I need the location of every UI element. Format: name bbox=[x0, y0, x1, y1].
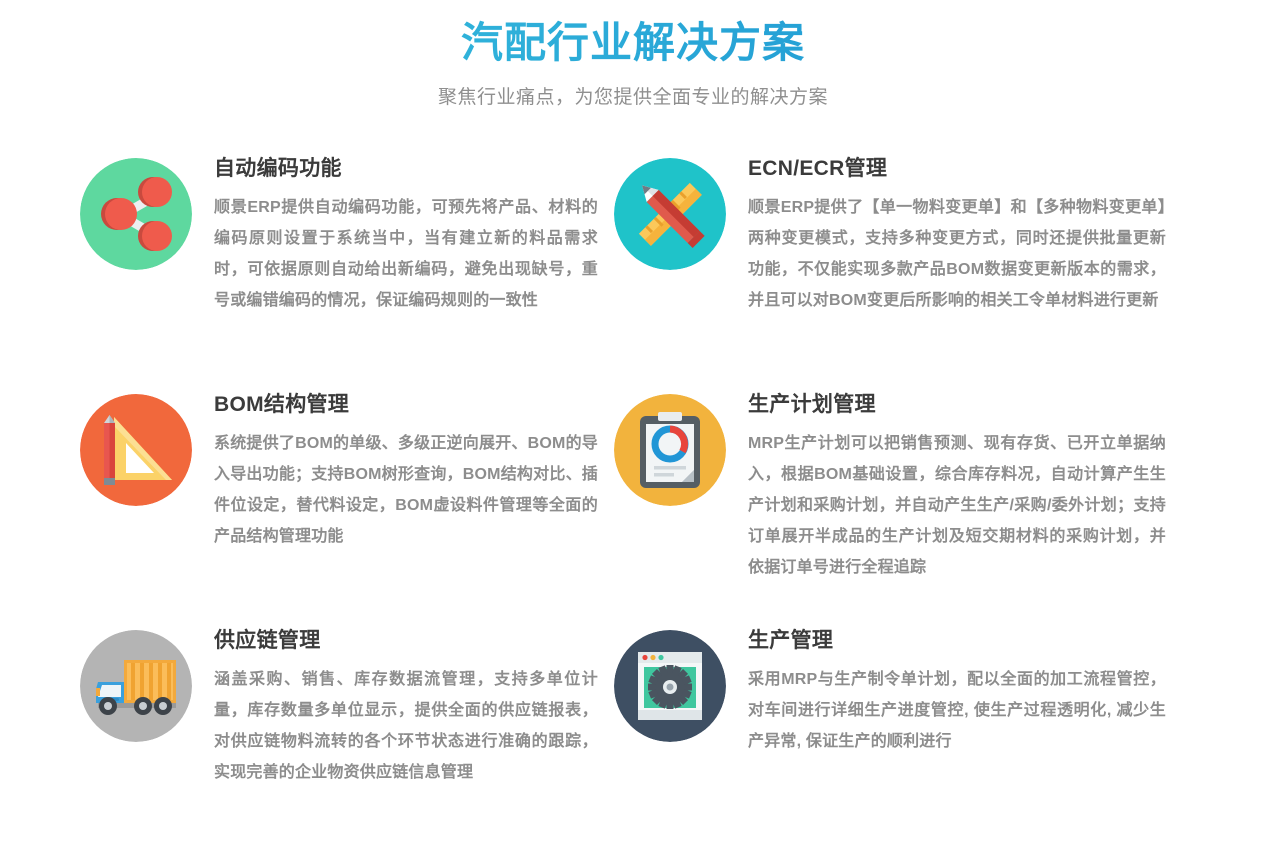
feature-body: ECN/ECR管理 顺景ERP提供了【单一物料变更单】和【多种物料变更单】两种变… bbox=[748, 154, 1180, 316]
page-header: 汽配行业解决方案 聚焦行业痛点，为您提供全面专业的解决方案 bbox=[0, 0, 1266, 112]
feature-card-auto-coding: 自动编码功能 顺景ERP提供自动编码功能，可预先将产品、材料的编码原则设置于系统… bbox=[80, 154, 614, 390]
feature-description: 顺景ERP提供了【单一物料变更单】和【多种物料变更单】两种变更模式，支持多种变更… bbox=[748, 192, 1166, 316]
feature-card-ecn-ecr: ECN/ECR管理 顺景ERP提供了【单一物料变更单】和【多种物料变更单】两种变… bbox=[614, 154, 1186, 390]
page-subtitle: 聚焦行业痛点，为您提供全面专业的解决方案 bbox=[0, 84, 1266, 112]
clipboard-chart-icon bbox=[614, 394, 726, 506]
feature-card-bom-structure: BOM结构管理 系统提供了BOM的单级、多级正逆向展开、BOM的导入导出功能；支… bbox=[80, 390, 614, 626]
feature-body: 生产计划管理 MRP生产计划可以把销售预测、现有存货、已开立单据纳入，根据BOM… bbox=[748, 390, 1180, 583]
share-nodes-icon bbox=[80, 158, 192, 270]
feature-title: 生产管理 bbox=[748, 626, 1180, 656]
feature-body: BOM结构管理 系统提供了BOM的单级、多级正逆向展开、BOM的导入导出功能；支… bbox=[214, 390, 590, 552]
page-title: 汽配行业解决方案 bbox=[0, 12, 1266, 74]
feature-title: BOM结构管理 bbox=[214, 390, 590, 420]
pencil-ruler-icon bbox=[614, 158, 726, 270]
feature-card-production-plan: 生产计划管理 MRP生产计划可以把销售预测、现有存货、已开立单据纳入，根据BOM… bbox=[614, 390, 1186, 626]
feature-grid: 自动编码功能 顺景ERP提供自动编码功能，可预先将产品、材料的编码原则设置于系统… bbox=[0, 154, 1266, 788]
feature-description: 采用MRP与生产制令单计划，配以全面的加工流程管控，对车间进行详细生产进度管控,… bbox=[748, 664, 1166, 757]
feature-title: 供应链管理 bbox=[214, 626, 590, 656]
feature-title: 自动编码功能 bbox=[214, 154, 590, 184]
feature-description: 涵盖采购、销售、库存数据流管理，支持多单位计量，库存数量多单位显示，提供全面的供… bbox=[214, 664, 598, 788]
feature-title: ECN/ECR管理 bbox=[748, 154, 1180, 184]
feature-card-supply-chain: 供应链管理 涵盖采购、销售、库存数据流管理，支持多单位计量，库存数量多单位显示，… bbox=[80, 626, 614, 788]
ruler-triangle-pencil-icon bbox=[80, 394, 192, 506]
feature-description: 顺景ERP提供自动编码功能，可预先将产品、材料的编码原则设置于系统当中，当有建立… bbox=[214, 192, 598, 316]
browser-gear-icon bbox=[614, 630, 726, 742]
feature-body: 生产管理 采用MRP与生产制令单计划，配以全面的加工流程管控，对车间进行详细生产… bbox=[748, 626, 1180, 757]
feature-description: MRP生产计划可以把销售预测、现有存货、已开立单据纳入，根据BOM基础设置，综合… bbox=[748, 428, 1166, 583]
solutions-page: 汽配行业解决方案 聚焦行业痛点，为您提供全面专业的解决方案 自动 bbox=[0, 0, 1266, 859]
feature-title: 生产计划管理 bbox=[748, 390, 1180, 420]
delivery-truck-icon bbox=[80, 630, 192, 742]
feature-body: 自动编码功能 顺景ERP提供自动编码功能，可预先将产品、材料的编码原则设置于系统… bbox=[214, 154, 590, 316]
feature-body: 供应链管理 涵盖采购、销售、库存数据流管理，支持多单位计量，库存数量多单位显示，… bbox=[214, 626, 590, 788]
feature-card-production-mgmt: 生产管理 采用MRP与生产制令单计划，配以全面的加工流程管控，对车间进行详细生产… bbox=[614, 626, 1186, 788]
feature-description: 系统提供了BOM的单级、多级正逆向展开、BOM的导入导出功能；支持BOM树形查询… bbox=[214, 428, 598, 552]
